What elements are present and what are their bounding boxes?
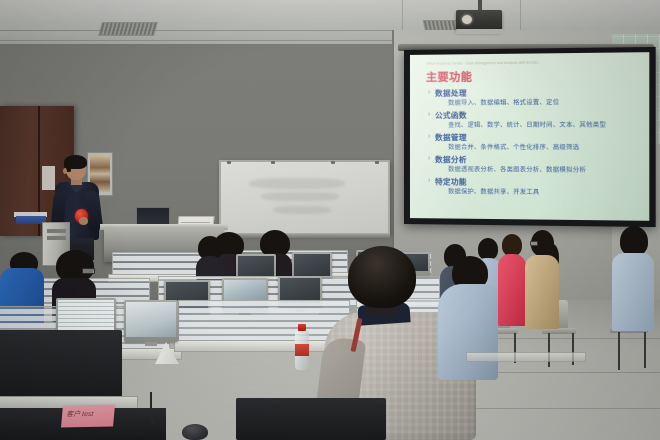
attendee-head <box>620 226 648 256</box>
ceiling-seam <box>0 40 400 41</box>
student-back-row <box>196 236 224 280</box>
slide-item: 数据管理 数据合并、条件格式、个性化排序、高级筛选 <box>428 132 643 153</box>
whiteboard-clip <box>271 161 275 164</box>
monitor-screen <box>126 302 176 337</box>
slide-bullet-detail: 查找、逻辑、数学、统计、日期时间、文本、其他类型 <box>428 120 643 130</box>
whiteboard <box>219 160 390 235</box>
bottle-cap <box>298 324 306 331</box>
slide-item: 公式函数 查找、逻辑、数学、统计、日期时间、文本、其他类型 <box>428 109 643 130</box>
attendee-torso <box>525 255 559 329</box>
classroom-photo: Office Business Series · Data Management… <box>0 0 660 440</box>
ceiling-vent-icon <box>98 22 158 36</box>
cable <box>150 392 190 426</box>
foreground-monitor-back <box>0 330 122 402</box>
attendee-head <box>348 246 416 308</box>
slide-header-line: Office Business Series · Data Management… <box>426 60 639 66</box>
bottle-label <box>295 344 309 356</box>
slide-bullet-detail: 数据合并、条件格式、个性化排序、高级筛选 <box>428 143 643 153</box>
attendee-head <box>502 234 522 256</box>
slide-bullet-heading: 公式函数 <box>428 109 643 121</box>
projection-screen: Office Business Series · Data Management… <box>404 47 656 227</box>
slide-bullet-detail: 数据透视表分析、各类图表分析、数据模拟分析 <box>428 165 643 176</box>
slide-bullet-list: 数据处理 数据导入、数据编辑、格式设置、定位 公式函数 查找、逻辑、数学、统计、… <box>428 86 643 200</box>
computer-mouse <box>182 424 208 440</box>
drive-bay <box>47 229 66 233</box>
pink-label-text: 客户 test <box>66 409 94 419</box>
slide-bullet-detail: 数据导入、数据编辑、格式设置、定位 <box>428 98 643 109</box>
whiteboard-clip <box>375 161 379 164</box>
slide-bullet-heading: 特定功能 <box>428 176 643 189</box>
whiteboard-clip <box>227 161 231 164</box>
attendee-torso <box>612 253 654 331</box>
attendee-torso <box>498 254 526 326</box>
glasses-icon <box>82 268 95 274</box>
slide-item: 数据分析 数据透视表分析、各类图表分析、数据模拟分析 <box>428 154 643 176</box>
whiteboard-surface <box>221 162 388 233</box>
drive-bay <box>47 236 66 240</box>
ceiling-seam <box>0 30 440 31</box>
attendee-tan-coat <box>525 230 559 328</box>
attendee-pink-top <box>498 234 526 326</box>
chair-leg <box>618 332 620 370</box>
slide-surface: Office Business Series · Data Management… <box>410 52 649 221</box>
foreground-desk-edge <box>236 398 386 440</box>
slide-bullet-heading: 数据处理 <box>428 86 643 99</box>
whiteboard-smudge <box>273 206 331 214</box>
attendee-torso <box>438 284 498 380</box>
slide-bullet-heading: 数据分析 <box>428 154 643 166</box>
presenter-ear <box>63 168 67 174</box>
slide-item: 特定功能 数据保护、数据共享、开发工具 <box>428 176 643 198</box>
whiteboard-clip <box>331 161 335 164</box>
desk-surface <box>466 352 586 362</box>
slide-item: 数据处理 数据导入、数据编辑、格式设置、定位 <box>428 86 643 108</box>
monitor-stand <box>145 342 158 346</box>
chair-leg <box>644 332 646 368</box>
glasses-icon <box>530 241 538 246</box>
slide-bullet-heading: 数据管理 <box>428 132 643 143</box>
whiteboard-smudge <box>249 178 345 189</box>
projector-ceiling-plate <box>456 29 504 34</box>
floor-seam <box>470 408 660 409</box>
projector-lens-icon <box>462 15 472 24</box>
pink-label-sticker: 客户 test <box>61 405 115 428</box>
whiteboard-smudge <box>261 192 339 201</box>
monitor <box>124 300 178 342</box>
slide-bullet-detail: 数据保护、数据共享、开发工具 <box>428 187 643 198</box>
presenter-hand <box>79 217 88 225</box>
attendee-light-blue-shirt <box>612 226 654 330</box>
slide-title: 主要功能 <box>426 68 472 84</box>
